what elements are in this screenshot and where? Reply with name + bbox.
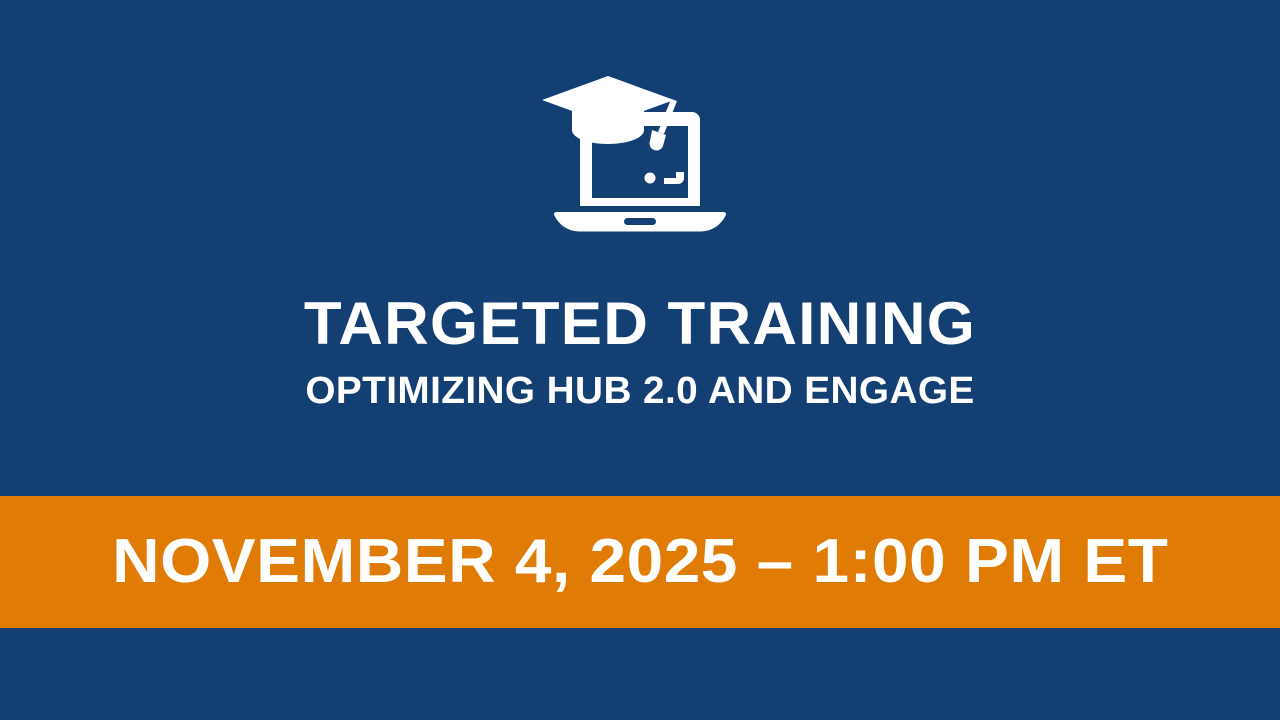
graduation-cap-laptop-icon (540, 72, 740, 252)
page-title: TARGETED TRAINING (0, 294, 1280, 354)
date-band: NOVEMBER 4, 2025 – 1:00 PM ET (0, 496, 1280, 628)
event-datetime: NOVEMBER 4, 2025 – 1:00 PM ET (112, 531, 1168, 593)
hero-section: TARGETED TRAINING OPTIMIZING HUB 2.0 AND… (0, 0, 1280, 496)
footer-strip (0, 628, 1280, 720)
page-subtitle: OPTIMIZING HUB 2.0 AND ENGAGE (0, 372, 1280, 410)
title-block: TARGETED TRAINING OPTIMIZING HUB 2.0 AND… (0, 294, 1280, 410)
training-announcement-slide: TARGETED TRAINING OPTIMIZING HUB 2.0 AND… (0, 0, 1280, 720)
